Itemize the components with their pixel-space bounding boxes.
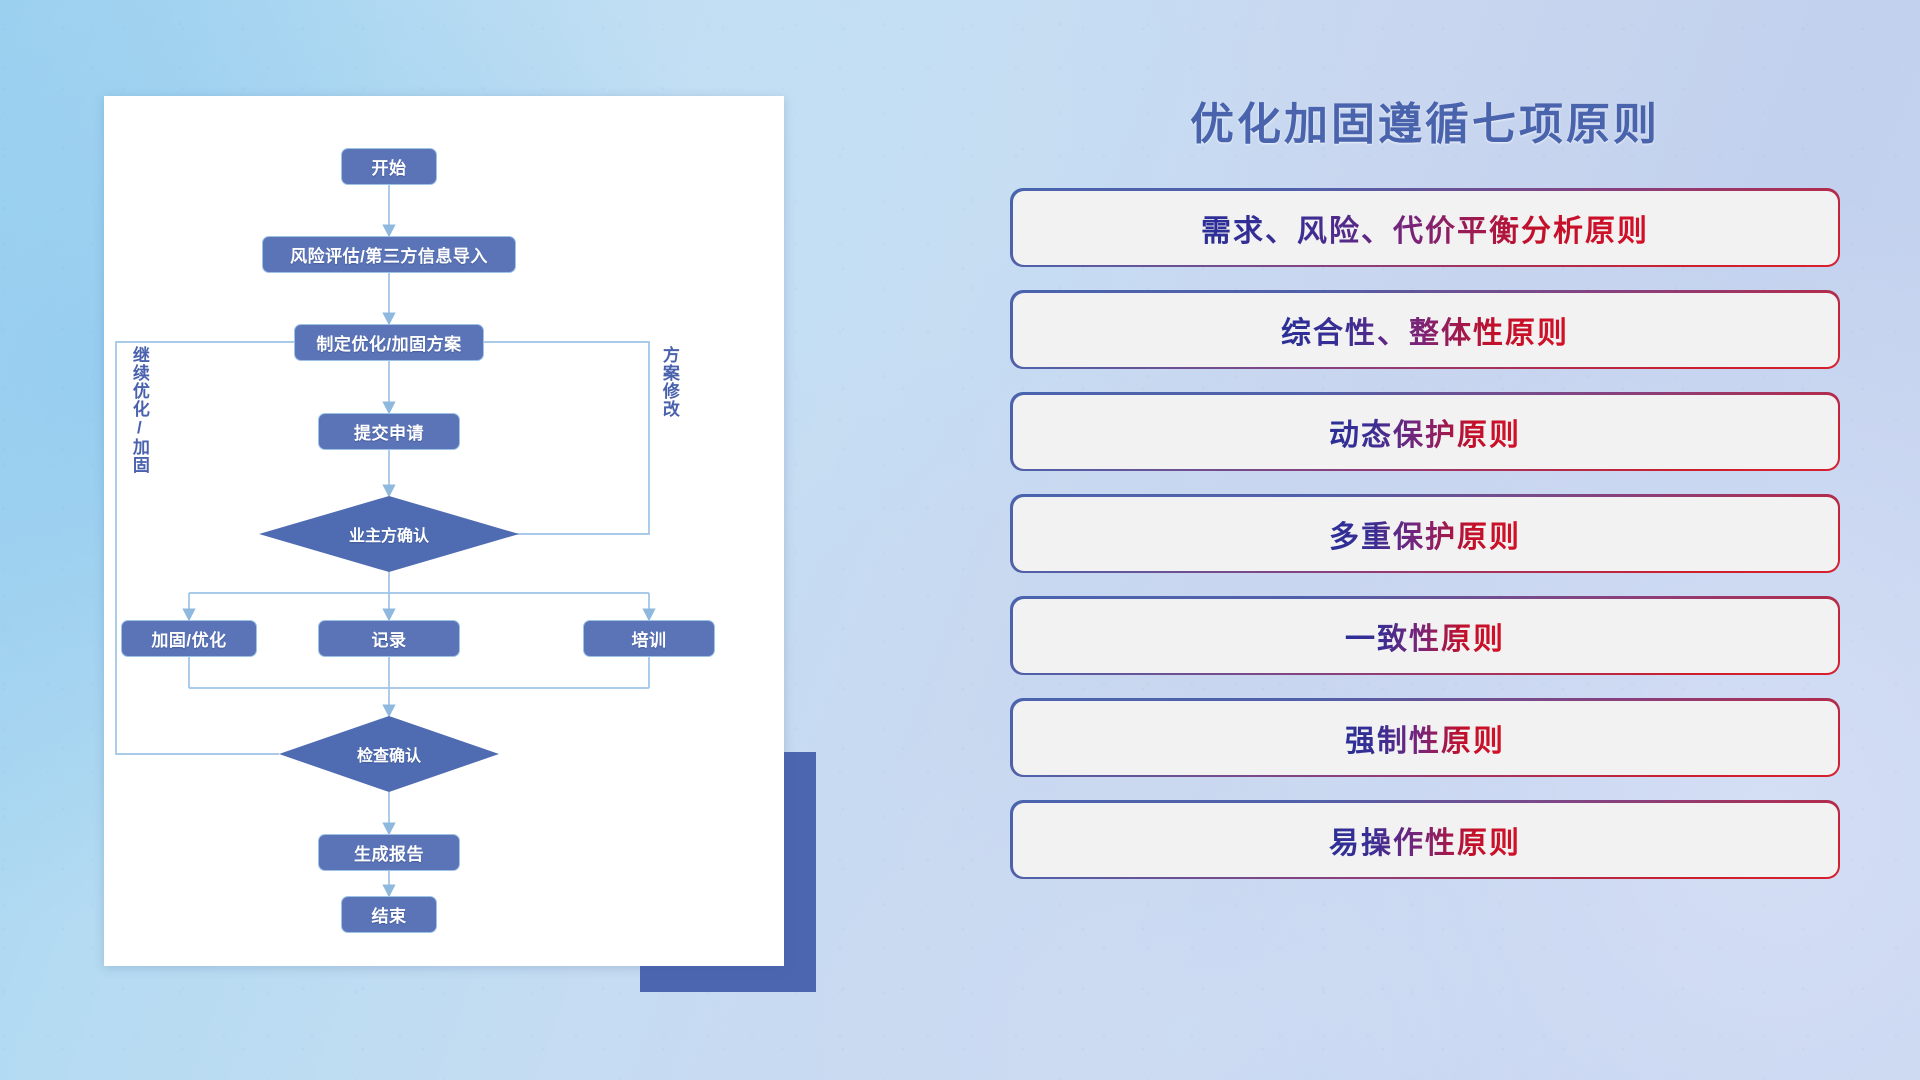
edge-label-plan-revision: 方案修改 — [660, 346, 678, 418]
principle-card-2[interactable]: 综合性、整体性原则 — [1010, 290, 1840, 369]
principle-card-3[interactable]: 动态保护原则 — [1010, 392, 1840, 471]
flowchart-canvas: 开始 风险评估/第三方信息导入 制定优化/加固方案 提交申请 业主方确认 加固/… — [104, 96, 784, 966]
principle-label: 综合性、整体性原则 — [1281, 308, 1569, 352]
principles-pane: 优化加固遵循七项原则 需求、风险、代价平衡分析原则 综合性、整体性原则 动态保护… — [1010, 88, 1840, 1018]
principle-card-4[interactable]: 多重保护原则 — [1010, 494, 1840, 573]
principle-label: 强制性原则 — [1345, 716, 1505, 760]
flow-node-risk-assess[interactable]: 风险评估/第三方信息导入 — [262, 236, 516, 273]
flow-node-owner-confirm-label: 业主方确认 — [349, 522, 429, 546]
flow-node-make-plan[interactable]: 制定优化/加固方案 — [294, 324, 484, 361]
principle-card-inner: 动态保护原则 — [1013, 395, 1838, 469]
principle-card-5[interactable]: 一致性原则 — [1010, 596, 1840, 675]
principle-label: 需求、风险、代价平衡分析原则 — [1201, 206, 1649, 250]
principle-label: 易操作性原则 — [1329, 818, 1521, 862]
slide-canvas: 开始 风险评估/第三方信息导入 制定优化/加固方案 提交申请 业主方确认 加固/… — [0, 0, 1920, 1080]
principles-list: 需求、风险、代价平衡分析原则 综合性、整体性原则 动态保护原则 多重保护原则 — [1010, 188, 1840, 879]
flow-node-reinforce[interactable]: 加固/优化 — [121, 620, 257, 657]
flow-node-training[interactable]: 培训 — [583, 620, 715, 657]
flow-node-end[interactable]: 结束 — [341, 896, 437, 933]
flow-node-record[interactable]: 记录 — [318, 620, 460, 657]
principle-card-inner: 强制性原则 — [1013, 701, 1838, 775]
principle-label: 动态保护原则 — [1329, 410, 1521, 454]
principle-card-inner: 易操作性原则 — [1013, 803, 1838, 877]
flow-node-submit-application[interactable]: 提交申请 — [318, 413, 460, 450]
flow-node-generate-report[interactable]: 生成报告 — [318, 834, 460, 871]
flowchart-card: 开始 风险评估/第三方信息导入 制定优化/加固方案 提交申请 业主方确认 加固/… — [104, 96, 784, 966]
principle-card-inner: 多重保护原则 — [1013, 497, 1838, 571]
page-title: 优化加固遵循七项原则 — [1010, 88, 1840, 152]
principle-card-inner: 需求、风险、代价平衡分析原则 — [1013, 191, 1838, 265]
principle-card-inner: 综合性、整体性原则 — [1013, 293, 1838, 367]
flow-node-start[interactable]: 开始 — [341, 148, 437, 185]
principle-label: 一致性原则 — [1345, 614, 1505, 658]
flow-node-check-confirm[interactable]: 检查确认 — [279, 716, 499, 792]
flow-node-owner-confirm[interactable]: 业主方确认 — [259, 496, 519, 572]
flow-node-check-confirm-label: 检查确认 — [357, 742, 421, 766]
principle-label: 多重保护原则 — [1329, 512, 1521, 556]
principle-card-6[interactable]: 强制性原则 — [1010, 698, 1840, 777]
principle-card-7[interactable]: 易操作性原则 — [1010, 800, 1840, 879]
principle-card-inner: 一致性原则 — [1013, 599, 1838, 673]
principle-card-1[interactable]: 需求、风险、代价平衡分析原则 — [1010, 188, 1840, 267]
edge-label-continue-optimize: 继续优化/加固 — [130, 346, 148, 474]
